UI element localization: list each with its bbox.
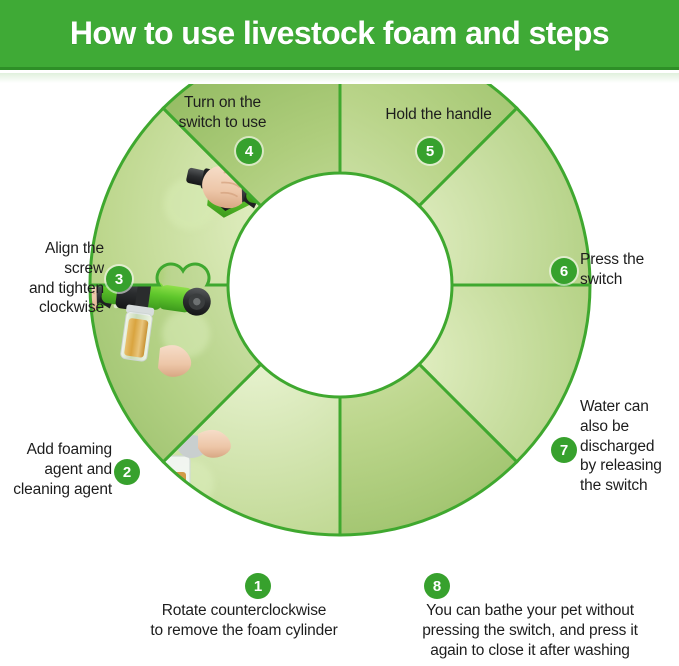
puzzle-piece-group <box>35 84 642 604</box>
step-badge-6: 6 <box>551 258 577 284</box>
step-caption-5: Hold the handle <box>356 105 521 125</box>
step-caption-6-line-2: switch <box>580 270 678 290</box>
step-badge-4-label: 4 <box>245 144 253 159</box>
step-badge-3: 3 <box>106 266 132 292</box>
puzzle-ring-svg <box>0 84 679 604</box>
step-badge-5: 5 <box>417 138 443 164</box>
step-caption-4-line-2: switch to use <box>150 113 295 133</box>
step-caption-3-line-3: clockwise <box>2 298 104 318</box>
step-caption-1-line-1: Rotate counterclockwise <box>92 601 396 621</box>
step-caption-6-line-1: Press the <box>580 250 678 270</box>
step-caption-8: You can bathe your pet without pressing … <box>384 601 676 660</box>
step-badge-7-label: 7 <box>560 443 568 458</box>
step-caption-8-line-3: again to close it after washing <box>384 641 676 661</box>
step-caption-4-line-1: Turn on the <box>150 93 295 113</box>
puzzle-ring-diagram: 4 5 3 6 2 7 1 8 <box>0 84 679 604</box>
step-caption-3: Align the screw and tighten clockwise <box>2 239 104 318</box>
step-caption-3-line-1: Align the screw <box>2 239 104 279</box>
step-caption-7-line-4: by releasing <box>580 456 679 476</box>
step-caption-7-line-5: the switch <box>580 476 679 496</box>
step-caption-2-line-1: Add foaming <box>2 440 112 460</box>
step-caption-2-line-3: cleaning agent <box>2 480 112 500</box>
step-badge-1: 1 <box>245 573 271 599</box>
step-caption-2-line-2: agent and <box>2 460 112 480</box>
step-badge-8: 8 <box>424 573 450 599</box>
page-title: How to use livestock foam and steps <box>70 15 609 52</box>
infographic-root: How to use livestock foam and steps <box>0 0 679 666</box>
step-caption-6: Press the switch <box>580 250 678 290</box>
step-badge-2: 2 <box>114 459 140 485</box>
step-caption-1-line-2: to remove the foam cylinder <box>92 621 396 641</box>
step-caption-8-line-2: pressing the switch, and press it <box>384 621 676 641</box>
step-caption-5-line-1: Hold the handle <box>356 105 521 125</box>
step-caption-3-line-2: and tighten <box>2 279 104 299</box>
step-caption-1: Rotate counterclockwise to remove the fo… <box>92 601 396 641</box>
step-caption-8-line-1: You can bathe your pet without <box>384 601 676 621</box>
step-badge-5-label: 5 <box>426 144 434 159</box>
step-badge-2-label: 2 <box>123 465 131 480</box>
step-caption-7-line-2: also be <box>580 417 679 437</box>
step-badge-3-label: 3 <box>115 272 123 287</box>
step-badge-4: 4 <box>236 138 262 164</box>
step-badge-7: 7 <box>551 437 577 463</box>
step-caption-7: Water can also be discharged by releasin… <box>580 397 679 496</box>
step-caption-7-line-1: Water can <box>580 397 679 417</box>
header-banner: How to use livestock foam and steps <box>0 0 679 70</box>
step-badge-1-label: 1 <box>254 579 262 594</box>
step-caption-7-line-3: discharged <box>580 437 679 457</box>
step-caption-2: Add foaming agent and cleaning agent <box>2 440 112 499</box>
step-badge-6-label: 6 <box>560 264 568 279</box>
step-caption-4: Turn on the switch to use <box>150 93 295 133</box>
step-badge-8-label: 8 <box>433 579 441 594</box>
banner-gradient-divider <box>0 73 679 83</box>
